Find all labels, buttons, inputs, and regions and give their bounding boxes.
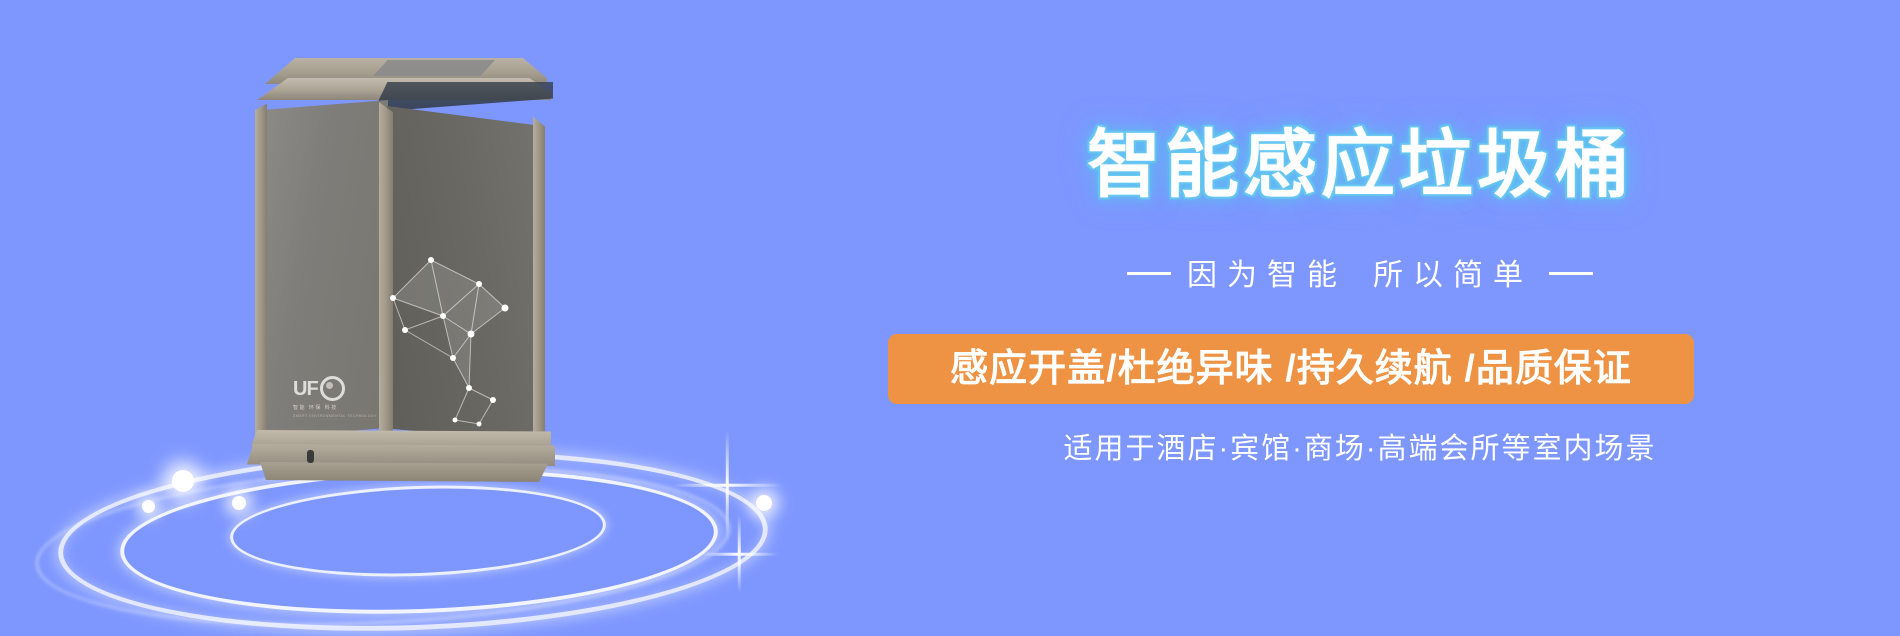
ripple-ring-middle bbox=[118, 460, 721, 624]
can-base-bottom bbox=[251, 462, 551, 482]
brand-chinese-tagline: 智能 环保 科技 bbox=[293, 404, 379, 411]
brand-sub-tagline: SMART ENVIRONMENTAL TECHNOLOGY bbox=[293, 414, 379, 418]
subtitle-text-right: 所以简单 bbox=[1373, 259, 1533, 292]
marketing-copy-block: 智能感应垃圾桶 因为智能所以简单 感应开盖/杜绝异味 /持久续航 /品质保证 适… bbox=[860, 0, 1900, 636]
low-poly-network-graphic bbox=[383, 238, 547, 438]
can-sensor-port bbox=[307, 450, 314, 463]
subtitle-text-left: 因为智能 bbox=[1187, 259, 1347, 292]
can-lid-inner-shadow bbox=[373, 82, 553, 112]
ripple-glow-dot bbox=[142, 500, 155, 513]
subtitle-dash-left bbox=[1127, 272, 1171, 275]
sparkle-star-icon bbox=[672, 430, 782, 540]
ripple-ring-inner bbox=[229, 479, 608, 582]
feature-highlight-badge: 感应开盖/杜绝异味 /持久续航 /品质保证 bbox=[888, 334, 1694, 404]
product-stage: UF 智能 环保 科技 SMART ENVIRONMENTAL TECHNOLO… bbox=[0, 0, 860, 636]
product-brand-logo: UF 智能 环保 科技 SMART ENVIRONMENTAL TECHNOLO… bbox=[293, 376, 379, 422]
usage-scenarios-text: 适用于酒店·宾馆·商场·高端会所等室内场景 bbox=[860, 432, 1860, 467]
brand-wordmark: UF bbox=[293, 379, 318, 399]
trash-can-product-image: UF 智能 环保 科技 SMART ENVIRONMENTAL TECHNOLO… bbox=[255, 58, 555, 458]
ripple-glow-dot bbox=[172, 470, 194, 492]
ripple-glow-dot bbox=[756, 495, 772, 511]
can-lid-opening bbox=[373, 60, 495, 76]
sparkle-star-icon bbox=[700, 515, 778, 593]
ripple-glow-dot bbox=[232, 496, 246, 510]
banner-subtitle: 因为智能所以简单 bbox=[860, 258, 1860, 294]
brand-ring-icon bbox=[320, 376, 345, 401]
can-edge-left bbox=[255, 100, 267, 440]
feature-highlight-text: 感应开盖/杜绝异味 /持久续航 /品质保证 bbox=[950, 350, 1632, 388]
subtitle-dash-right bbox=[1549, 272, 1593, 275]
promo-banner: UF 智能 环保 科技 SMART ENVIRONMENTAL TECHNOLO… bbox=[0, 0, 1900, 636]
brand-wordmark-row: UF bbox=[293, 376, 379, 401]
banner-title: 智能感应垃圾桶 bbox=[860, 128, 1860, 202]
